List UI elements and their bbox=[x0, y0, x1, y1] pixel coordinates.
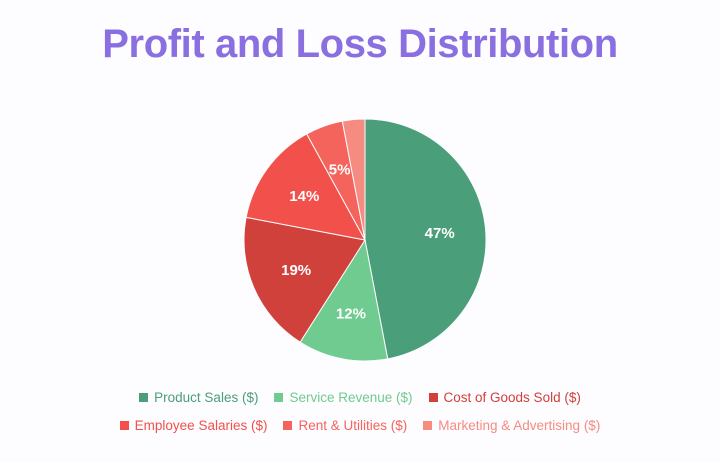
legend-swatch-icon bbox=[283, 421, 292, 430]
pie-chart-card: Profit and Loss Distribution 47%12%19%14… bbox=[0, 0, 720, 462]
legend-item[interactable]: Rent & Utilities ($) bbox=[283, 418, 407, 433]
legend-swatch-icon bbox=[120, 421, 129, 430]
chart-legend: Product Sales ($)Service Revenue ($)Cost… bbox=[0, 383, 720, 439]
legend-label: Marketing & Advertising ($) bbox=[438, 418, 600, 433]
pie-svg: 47%12%19%14%5% bbox=[243, 118, 487, 362]
pie-chart-plot-area: 47%12%19%14%5% bbox=[243, 118, 487, 362]
pie-slice-label: 14% bbox=[289, 188, 319, 205]
legend-swatch-icon bbox=[423, 421, 432, 430]
legend-swatch-icon bbox=[429, 393, 438, 402]
legend-item[interactable]: Product Sales ($) bbox=[139, 390, 258, 405]
legend-item[interactable]: Marketing & Advertising ($) bbox=[423, 418, 600, 433]
legend-item[interactable]: Cost of Goods Sold ($) bbox=[429, 390, 581, 405]
legend-item[interactable]: Employee Salaries ($) bbox=[120, 418, 268, 433]
pie-slice-label: 19% bbox=[281, 262, 311, 279]
legend-row: Employee Salaries ($)Rent & Utilities ($… bbox=[0, 411, 720, 439]
pie-slice-label: 47% bbox=[425, 225, 455, 242]
legend-label: Rent & Utilities ($) bbox=[298, 418, 407, 433]
legend-item[interactable]: Service Revenue ($) bbox=[274, 390, 412, 405]
legend-label: Product Sales ($) bbox=[154, 390, 258, 405]
legend-swatch-icon bbox=[139, 393, 148, 402]
page-title: Profit and Loss Distribution bbox=[0, 22, 720, 67]
pie-slice-label: 5% bbox=[329, 161, 351, 178]
legend-label: Service Revenue ($) bbox=[289, 390, 412, 405]
legend-label: Employee Salaries ($) bbox=[135, 418, 268, 433]
legend-swatch-icon bbox=[274, 393, 283, 402]
pie-slice-label: 12% bbox=[336, 306, 366, 323]
legend-label: Cost of Goods Sold ($) bbox=[444, 390, 581, 405]
legend-row: Product Sales ($)Service Revenue ($)Cost… bbox=[0, 383, 720, 411]
